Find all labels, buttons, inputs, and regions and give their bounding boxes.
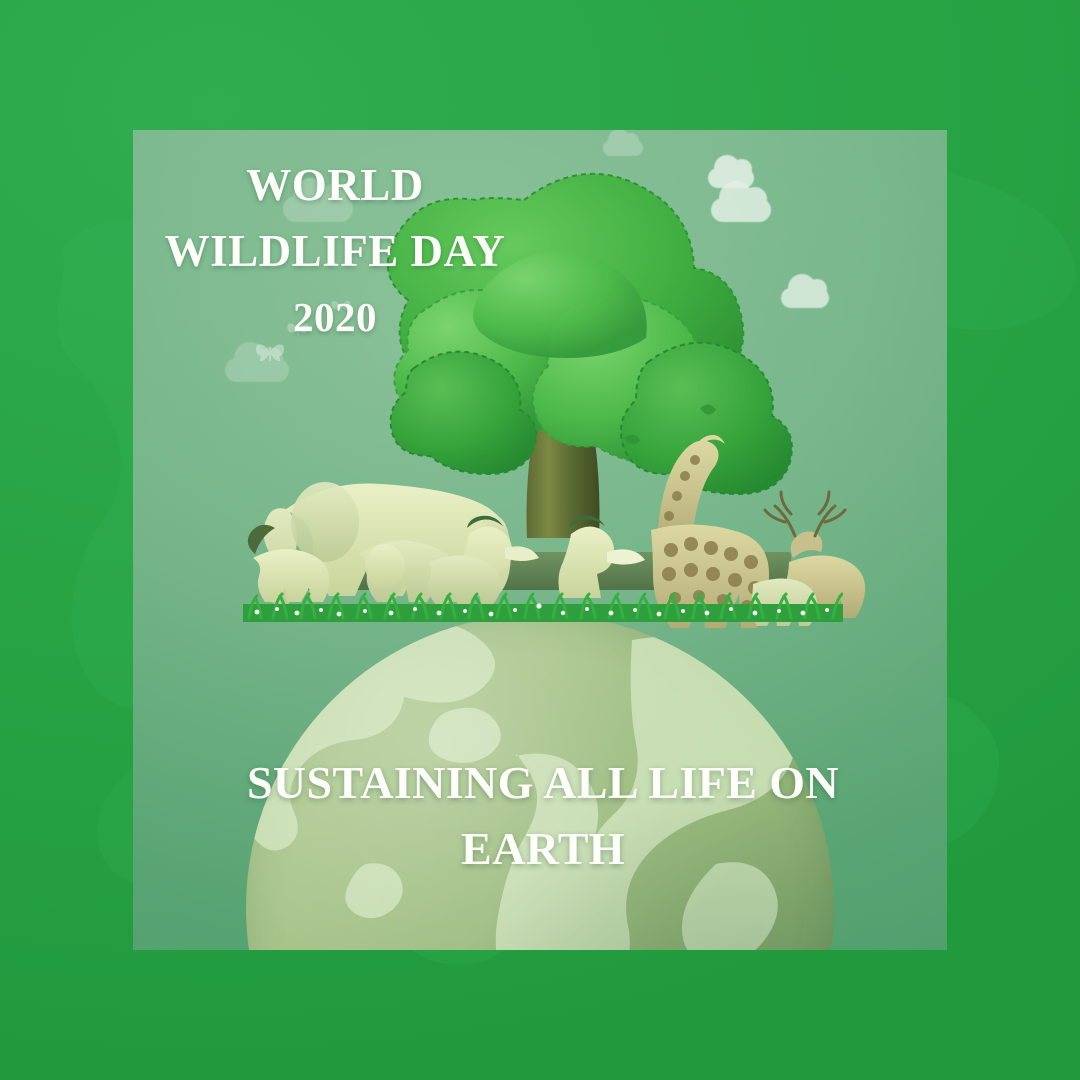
- poster-subtitle: SUSTAINING ALL LIFE ON EARTH: [193, 750, 893, 882]
- grass-strip: [243, 582, 843, 622]
- headline-line-1: WORLD: [160, 152, 510, 218]
- subtitle-line-2: EARTH: [193, 816, 893, 882]
- illustration-panel: WORLD WILDLIFE DAY 2020 SUSTAINING ALL L…: [133, 130, 947, 950]
- headline-line-3: 2020: [160, 284, 510, 350]
- footer: GADEF Preserving Humanity: [0, 950, 1080, 1080]
- page-title: WORLD WILDLIFE DAY 2020: [160, 152, 510, 350]
- headline-line-2: WILDLIFE DAY: [160, 218, 510, 284]
- poster: WORLD WILDLIFE DAY 2020 SUSTAINING ALL L…: [0, 0, 1080, 1080]
- subtitle-line-1: SUSTAINING ALL LIFE ON: [193, 750, 893, 816]
